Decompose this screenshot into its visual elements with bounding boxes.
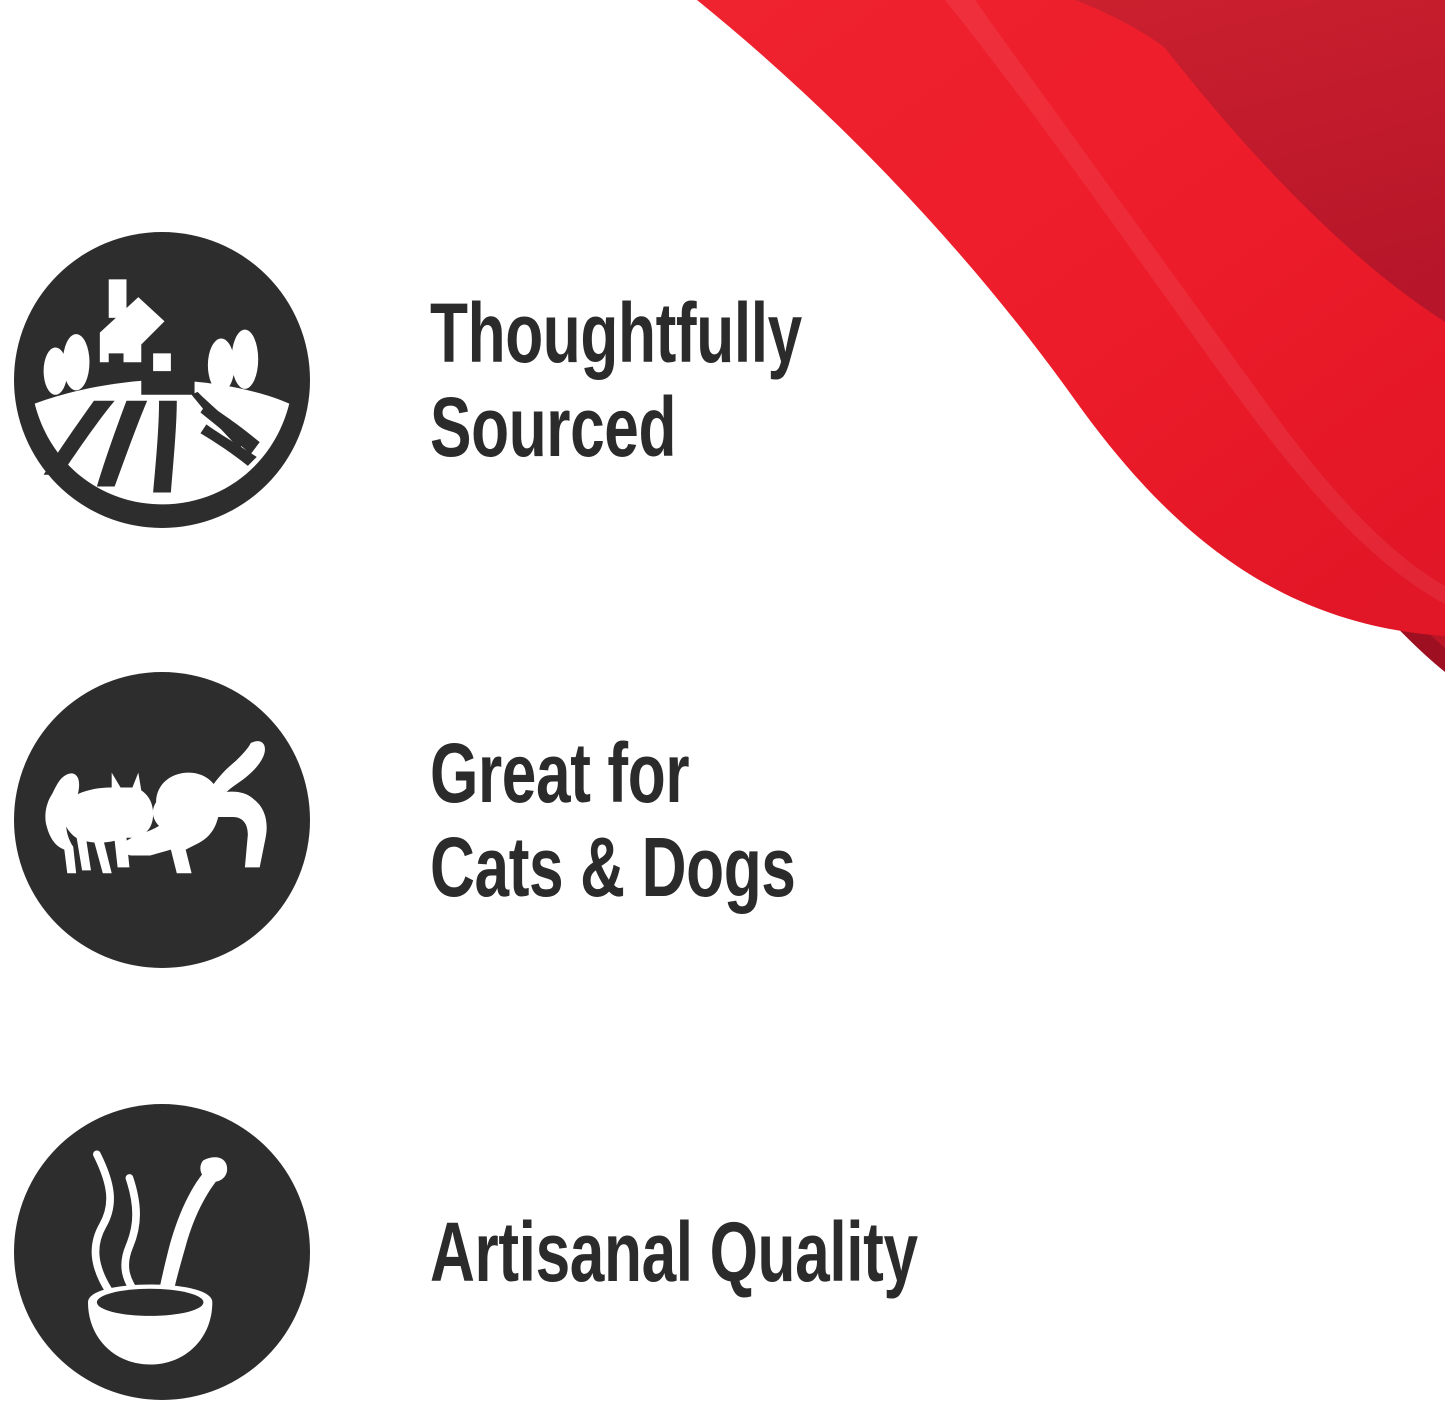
feature-title: Artisanal Quality <box>430 1205 918 1299</box>
feature-title: Thoughtfully Sourced <box>430 286 802 474</box>
ladle-icon <box>14 1104 310 1400</box>
farm-icon-glyph <box>14 232 310 528</box>
feature-row: Great for Cats & Dogs <box>14 672 924 968</box>
feature-row: Thoughtfully Sourced <box>14 232 933 528</box>
cat-and-dog-icon-glyph <box>14 672 310 968</box>
feature-row: Artisanal Quality <box>14 1104 1089 1400</box>
cat-and-dog-icon <box>14 672 310 968</box>
ladle-icon-glyph <box>14 1104 310 1400</box>
feature-title-line-1: Great for <box>430 726 689 820</box>
feature-title-line-1: Thoughtfully <box>430 286 802 380</box>
feature-callout-panel: Thoughtfully Sourced Great for Cats & Do… <box>0 0 1445 1411</box>
feature-title-line-2: Sourced <box>430 380 676 474</box>
feature-title: Great for Cats & Dogs <box>430 726 795 914</box>
feature-title-line-1: Artisanal Quality <box>430 1205 918 1299</box>
farm-icon <box>14 232 310 528</box>
feature-title-line-2: Cats & Dogs <box>430 820 795 914</box>
